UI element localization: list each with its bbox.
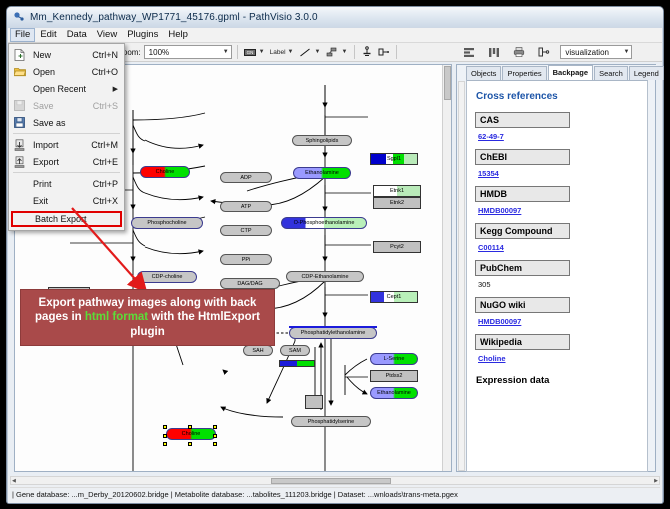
node-sam[interactable]: SAM bbox=[280, 345, 310, 356]
node-choline-top[interactable]: Choline bbox=[140, 166, 190, 178]
xref-value-wikipedia[interactable]: Choline bbox=[478, 354, 647, 363]
chevron-down-icon: ▼ bbox=[223, 49, 229, 55]
save-as-icon bbox=[11, 116, 28, 130]
chevron-down-icon-2: ▼ bbox=[623, 49, 629, 55]
save-icon bbox=[11, 99, 28, 113]
menu-item-export-accel: Ctrl+E bbox=[93, 157, 124, 167]
xref-label-wikipedia: Wikipedia bbox=[475, 334, 570, 350]
menu-item-save-accel: Ctrl+S bbox=[93, 101, 124, 111]
canvas-vertical-scrollbar[interactable] bbox=[442, 65, 451, 472]
tab-legend[interactable]: Legend bbox=[629, 66, 664, 80]
node-ppi[interactable]: PPi bbox=[220, 254, 272, 265]
gene-cept1[interactable]: Cept1 bbox=[370, 291, 418, 303]
node-cdp-choline[interactable]: CDP-choline bbox=[137, 271, 197, 283]
canvas-scroll-thumb[interactable] bbox=[444, 66, 451, 100]
open-recent-spacer-icon bbox=[11, 82, 28, 96]
menu-item-import-label: Import bbox=[28, 140, 91, 150]
tab-search[interactable]: Search bbox=[594, 66, 628, 80]
node-atp[interactable]: ATP bbox=[220, 201, 272, 212]
xref-label-chebi: ChEBI bbox=[475, 149, 570, 165]
datanode-dropdown-icon[interactable]: ▼ bbox=[259, 49, 265, 55]
label-dropdown-icon[interactable]: ▼ bbox=[288, 49, 294, 55]
interaction-dropdown-icon[interactable]: ▼ bbox=[341, 49, 347, 55]
menu-item-print[interactable]: Print Ctrl+P bbox=[9, 175, 124, 192]
layout-icon[interactable] bbox=[537, 45, 551, 59]
node-choline-bottom[interactable]: Choline bbox=[166, 428, 216, 440]
menu-item-batch-export[interactable]: Batch Export bbox=[11, 211, 122, 227]
menu-item-export-label: Export bbox=[28, 157, 93, 167]
xref-label-hmdb: HMDB bbox=[475, 186, 570, 202]
gene-etnk2[interactable]: Etnk2 bbox=[373, 197, 421, 209]
menu-item-batch-export-label: Batch Export bbox=[30, 214, 120, 224]
menu-item-exit[interactable]: Exit Ctrl+X bbox=[9, 192, 124, 209]
xref-label-nugo-wiki: NuGO wiki bbox=[475, 297, 570, 313]
node-adp[interactable]: ADP bbox=[220, 172, 272, 183]
phosphatidylethanolamine-bluebar bbox=[289, 326, 377, 328]
open-folder-icon bbox=[11, 65, 28, 79]
gene-sgpl1[interactable]: Sgpl1 bbox=[370, 153, 418, 165]
horizontal-scrollbar[interactable]: ◀ ▶ bbox=[10, 476, 660, 485]
node-sah[interactable]: SAH bbox=[243, 345, 273, 356]
backpage-scrollbar[interactable] bbox=[458, 81, 465, 471]
menu-item-exit-label: Exit bbox=[28, 196, 93, 206]
side-panel: ▸▸ Objects Properties Backpage Search Le… bbox=[456, 64, 656, 472]
visualization-value: visualization bbox=[565, 48, 609, 57]
menu-item-import-accel: Ctrl+M bbox=[91, 140, 124, 150]
menu-view[interactable]: View bbox=[92, 28, 122, 42]
cross-references-heading: Cross references bbox=[476, 91, 647, 102]
toolbar-separator-3 bbox=[396, 45, 397, 59]
backpage-content: Cross references CAS 62-49-7 ChEBI 15354… bbox=[466, 80, 648, 472]
node-phosphocholine[interactable]: Phosphocholine bbox=[131, 217, 203, 229]
exit-spacer-icon bbox=[11, 194, 28, 208]
tab-properties[interactable]: Properties bbox=[502, 66, 546, 80]
node-sphingolipids[interactable]: Sphingolipids bbox=[292, 135, 352, 146]
tab-objects[interactable]: Objects bbox=[466, 66, 501, 80]
toolbar-separator bbox=[237, 45, 238, 59]
xref-value-pubchem: 305 bbox=[478, 280, 647, 289]
stack-icon[interactable] bbox=[487, 45, 501, 59]
xref-value-nugo-wiki[interactable]: HMDB00097 bbox=[478, 317, 647, 326]
annotation-callout: Export pathway images along with back pa… bbox=[20, 289, 275, 346]
hscroll-thumb[interactable] bbox=[271, 478, 391, 484]
gene-pcyt2[interactable]: Pcyt2 bbox=[373, 241, 421, 253]
import-icon bbox=[11, 138, 28, 152]
menu-data[interactable]: Data bbox=[62, 28, 92, 42]
toolbar-separator-2 bbox=[354, 45, 355, 59]
tab-backpage[interactable]: Backpage bbox=[548, 65, 593, 80]
xref-label-kegg-compound: Kegg Compound bbox=[475, 223, 570, 239]
node-dag[interactable]: DAG/DAG bbox=[220, 278, 280, 289]
menu-item-save-label: Save bbox=[28, 101, 93, 111]
xref-value-kegg-compound[interactable]: C00114 bbox=[478, 243, 647, 252]
expression-legend-block bbox=[279, 360, 315, 367]
node-ethanolamine-2[interactable]: Ethanolamine bbox=[370, 387, 418, 399]
menu-item-open[interactable]: Open Ctrl+O bbox=[9, 63, 124, 80]
callout-text: Export pathway images along with back pa… bbox=[27, 296, 268, 340]
pathvisio-icon bbox=[13, 11, 25, 23]
menu-item-print-label: Print bbox=[28, 179, 93, 189]
menu-file[interactable]: File bbox=[10, 28, 35, 42]
svg-text:GN: GN bbox=[246, 50, 253, 55]
gene-ptdss2[interactable]: Ptdss2 bbox=[370, 370, 418, 382]
scroll-left-icon[interactable]: ◀ bbox=[11, 478, 17, 484]
menu-item-open-label: Open bbox=[28, 67, 92, 77]
print-icon[interactable] bbox=[512, 45, 526, 59]
callout-highlight: html format bbox=[85, 311, 148, 323]
expression-data-heading: Expression data bbox=[476, 375, 647, 386]
menu-item-save-as-label: Save as bbox=[28, 118, 118, 128]
xref-value-cas[interactable]: 62-49-7 bbox=[478, 132, 647, 141]
node-phosphatidylethanolamine[interactable]: Phosphatidylethanolamine bbox=[289, 327, 377, 339]
menu-item-new-accel: Ctrl+N bbox=[92, 50, 124, 60]
new-file-icon bbox=[11, 48, 28, 62]
xref-label-pubchem: PubChem bbox=[475, 260, 570, 276]
menu-plugins[interactable]: Plugins bbox=[122, 28, 163, 42]
export-icon bbox=[11, 155, 28, 169]
desktop-background: Mm_Kennedy_pathway_WP1771_45176.gpml - P… bbox=[0, 0, 670, 509]
node-ethanolamine[interactable]: Ethanolamine bbox=[293, 167, 351, 179]
shape-icon[interactable] bbox=[377, 45, 391, 59]
menu-item-print-accel: Ctrl+P bbox=[93, 179, 124, 189]
node-o-phosphoethanolamine[interactable]: O-Phosphoethanolamine bbox=[281, 217, 367, 229]
gene-pemt[interactable] bbox=[305, 395, 323, 409]
window-title: Mm_Kennedy_pathway_WP1771_45176.gpml - P… bbox=[30, 12, 318, 23]
status-text: | Gene database: ...m_Derby_20120602.bri… bbox=[10, 487, 660, 501]
node-ctp[interactable]: CTP bbox=[220, 225, 272, 236]
align-icon[interactable] bbox=[462, 45, 476, 59]
menu-item-open-recent-label: Open Recent bbox=[28, 84, 113, 94]
line-icon[interactable] bbox=[298, 45, 312, 59]
datanode-icon[interactable]: GN bbox=[243, 45, 257, 59]
callout-part2: with the HtmlExport plugin bbox=[130, 311, 260, 338]
menu-bar[interactable]: File Edit Data View Plugins Help bbox=[8, 28, 662, 43]
menu-item-new[interactable]: New Ctrl+N bbox=[9, 46, 124, 63]
menu-separator-2 bbox=[13, 172, 120, 173]
menu-help[interactable]: Help bbox=[163, 28, 193, 42]
title-bar: Mm_Kennedy_pathway_WP1771_45176.gpml - P… bbox=[7, 7, 663, 27]
submenu-arrow-icon: ▶ bbox=[113, 85, 124, 93]
menu-separator-1 bbox=[13, 133, 120, 134]
print-spacer-icon bbox=[11, 177, 28, 191]
node-phosphatidylserine[interactable]: Phosphatidylserine bbox=[291, 416, 371, 427]
menu-item-new-label: New bbox=[28, 50, 92, 60]
menu-item-open-recent[interactable]: Open Recent ▶ bbox=[9, 80, 124, 97]
status-bar: ◀ ▶ | Gene database: ...m_Derby_20120602… bbox=[8, 476, 662, 503]
file-menu-dropdown[interactable]: New Ctrl+N Open Ctrl+O Open Recent ▶ Sav… bbox=[8, 43, 125, 231]
zoom-value: 100% bbox=[149, 48, 169, 57]
menu-edit[interactable]: Edit bbox=[35, 28, 61, 42]
xref-label-cas: CAS bbox=[475, 112, 570, 128]
menu-item-import[interactable]: Import Ctrl+M bbox=[9, 136, 124, 153]
scroll-right-icon[interactable]: ▶ bbox=[653, 478, 659, 484]
menu-item-save-as[interactable]: Save as bbox=[9, 114, 124, 131]
zoom-select[interactable]: 100% ▼ bbox=[144, 45, 232, 59]
menu-item-open-accel: Ctrl+O bbox=[92, 67, 124, 77]
line-dropdown-icon[interactable]: ▼ bbox=[314, 49, 320, 55]
batch-export-spacer-icon bbox=[13, 212, 30, 226]
node-cdp-ethanolamine[interactable]: CDP-Ethanolamine bbox=[286, 271, 364, 282]
xref-value-hmdb[interactable]: HMDB00097 bbox=[478, 206, 647, 215]
node-l-serine[interactable]: L-Serine bbox=[370, 353, 418, 365]
gene-etnk1[interactable]: Etnk1 bbox=[373, 185, 421, 197]
xref-value-chebi[interactable]: 15354 bbox=[478, 169, 647, 178]
anchor-icon[interactable] bbox=[360, 45, 374, 59]
visualization-select[interactable]: visualization ▼ bbox=[560, 45, 632, 59]
menu-item-exit-accel: Ctrl+X bbox=[93, 196, 124, 206]
label-button[interactable]: Label bbox=[270, 49, 286, 56]
menu-item-export[interactable]: Export Ctrl+E bbox=[9, 153, 124, 170]
panel-tabs[interactable]: Objects Properties Backpage Search Legen… bbox=[457, 65, 657, 80]
menu-item-save: Save Ctrl+S bbox=[9, 97, 124, 114]
interaction-icon[interactable] bbox=[325, 45, 339, 59]
